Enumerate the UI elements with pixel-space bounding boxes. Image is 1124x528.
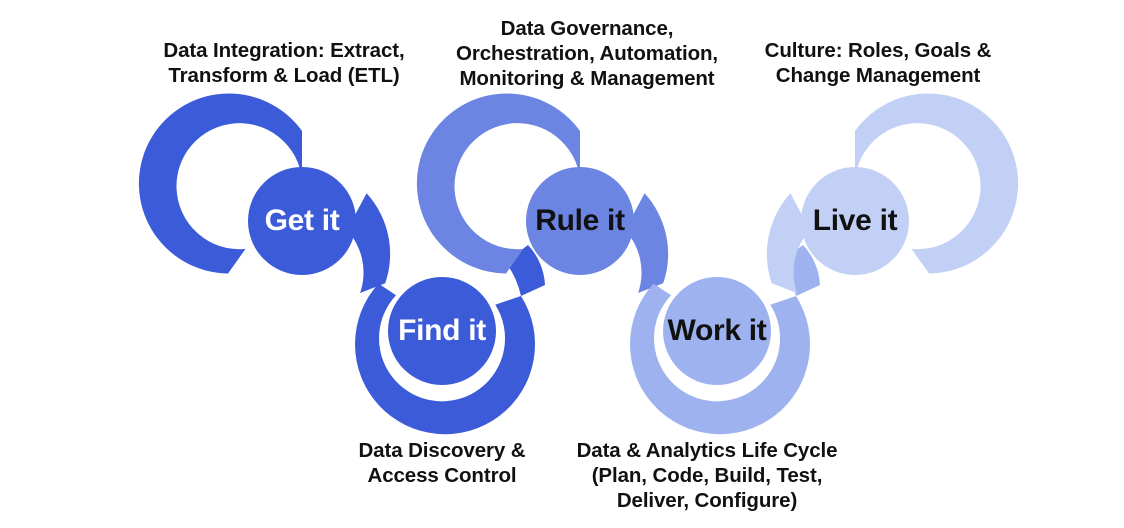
- caption-data-integration: Data Integration: Extract, Transform & L…: [124, 38, 444, 88]
- node-label-find-it: Find it: [398, 314, 486, 348]
- diagram-canvas: Get it Find it Rule it Work it Live it D…: [0, 0, 1124, 528]
- node-label-get-it: Get it: [265, 204, 340, 238]
- node-label-work-it: Work it: [667, 314, 766, 348]
- caption-data-discovery: Data Discovery & Access Control: [292, 438, 592, 488]
- node-get-it[interactable]: [139, 94, 390, 293]
- caption-culture: Culture: Roles, Goals & Change Managemen…: [728, 38, 1028, 88]
- node-label-rule-it: Rule it: [535, 204, 625, 238]
- caption-data-analytics-lifecycle: Data & Analytics Life Cycle (Plan, Code,…: [548, 438, 866, 513]
- caption-data-governance: Data Governance, Orchestration, Automati…: [432, 16, 742, 91]
- node-rule-it[interactable]: [417, 94, 668, 293]
- node-label-live-it: Live it: [813, 204, 898, 238]
